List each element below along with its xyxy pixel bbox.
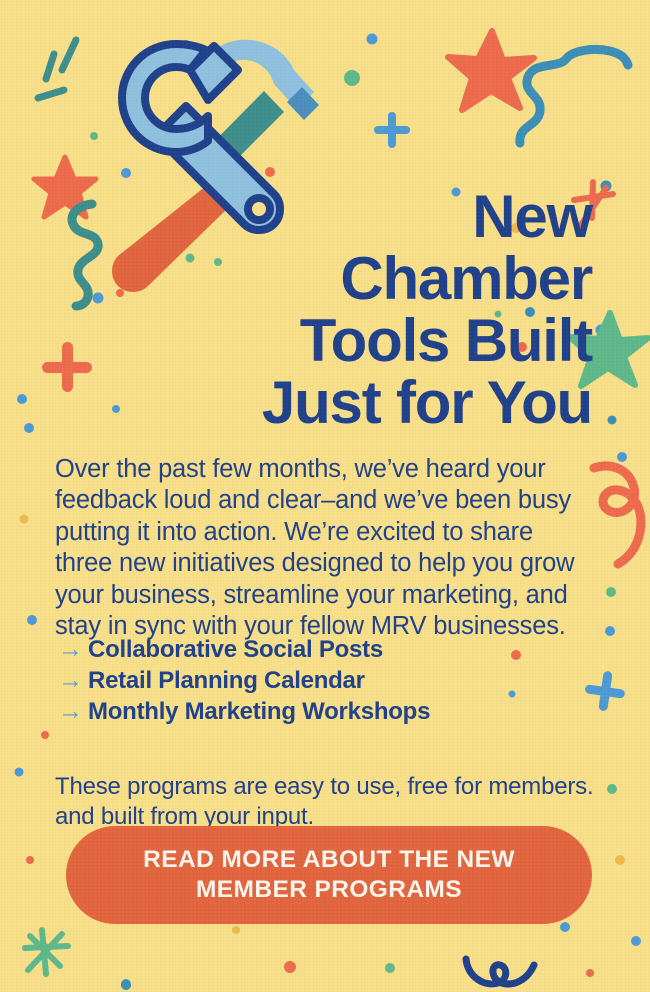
blue-plus-right: [582, 668, 628, 714]
navy-loop-bottom-right: [462, 955, 542, 992]
closing-paragraph: These programs are easy to use, free for…: [55, 772, 635, 832]
intro-line-3: putting it into action. We’re excited to…: [55, 517, 595, 549]
blue-squiggle-top-right: [514, 45, 634, 150]
orange-curl-right: [590, 460, 650, 570]
blue-plus-top: [372, 110, 412, 150]
arrow-right-icon: →: [58, 668, 88, 693]
headline-line-4: Just for You: [100, 372, 592, 434]
arrow-right-icon: →: [58, 637, 88, 662]
intro-line-4: three new initiatives designed to help y…: [55, 548, 595, 580]
intro-line-1: Over the past few months, we’ve heard yo…: [55, 454, 595, 486]
green-starburst-bottom-left: [22, 926, 74, 982]
initiatives-list: → Collaborative Social Posts → Retail Pl…: [58, 634, 578, 727]
arrow-right-icon: →: [58, 699, 88, 724]
cta-line-1: READ MORE ABOUT THE NEW: [143, 845, 515, 875]
closing-line-1: These programs are easy to use, free for…: [55, 772, 635, 802]
list-item-label: Collaborative Social Posts: [88, 636, 383, 664]
intro-line-5: your business, streamline your marketing…: [55, 580, 595, 612]
orange-plus-left: [40, 340, 94, 394]
headline-line-3: Tools Built: [100, 310, 592, 372]
cta-line-2: MEMBER PROGRAMS: [143, 875, 515, 905]
list-item[interactable]: → Collaborative Social Posts: [58, 634, 578, 665]
email-promo-poster: New Chamber Tools Built Just for You Ove…: [0, 0, 650, 992]
list-item-label: Retail Planning Calendar: [88, 667, 365, 695]
intro-line-2: feedback loud and clear–and we’ve been b…: [55, 485, 595, 517]
read-more-button[interactable]: READ MORE ABOUT THE NEW MEMBER PROGRAMS: [66, 826, 592, 924]
intro-paragraph: Over the past few months, we’ve heard yo…: [55, 454, 595, 643]
list-item[interactable]: → Monthly Marketing Workshops: [58, 696, 578, 727]
headline-line-1: New: [100, 186, 592, 248]
headline-line-2: Chamber: [100, 248, 592, 310]
list-item[interactable]: → Retail Planning Calendar: [58, 665, 578, 696]
page-title: New Chamber Tools Built Just for You: [100, 186, 592, 434]
list-item-label: Monthly Marketing Workshops: [88, 698, 430, 726]
